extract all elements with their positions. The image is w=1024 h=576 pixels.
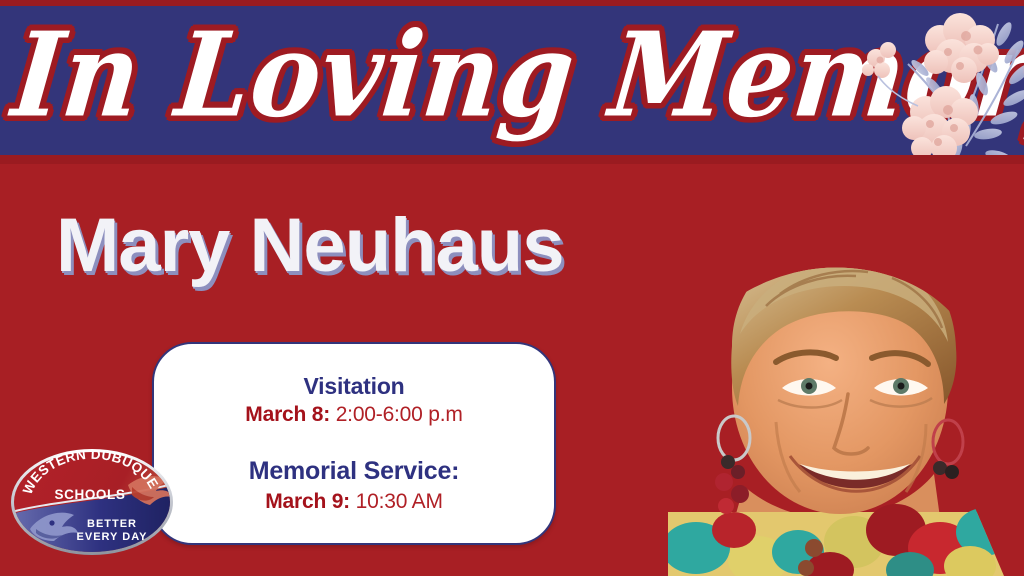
event-title: Visitation — [172, 373, 536, 399]
event-time: 10:30 AM — [356, 490, 443, 513]
logo-line2: SCHOOLS — [55, 487, 126, 502]
banner-bar: In Loving Memory — [0, 6, 1024, 155]
event-line: March 8: 2:00-6:00 p.m — [172, 402, 536, 427]
event-title: Memorial Service: — [172, 457, 536, 486]
event-date: March 9: — [265, 490, 350, 513]
event-memorial-service: Memorial Service: March 9: 10:30 AM — [172, 457, 536, 514]
service-details-card: Visitation March 8: 2:00-6:00 p.m Memori… — [152, 342, 556, 545]
event-date: March 8: — [245, 403, 330, 426]
logo-tagline-1: BETTER — [87, 518, 137, 530]
banner-script-title: In Loving Memory — [5, 6, 923, 155]
deceased-name: Mary Neuhaus — [56, 202, 564, 289]
event-line: March 9: 10:30 AM — [172, 489, 536, 514]
school-logo: WESTERN DUBUQUE SCHOOLS BETTER EVERY DAY — [8, 441, 176, 563]
event-visitation: Visitation March 8: 2:00-6:00 p.m — [172, 373, 536, 428]
logo-tagline-2: EVERY DAY — [77, 531, 148, 543]
portrait-photo — [648, 156, 1024, 576]
event-time: 2:00-6:00 p.m — [336, 403, 463, 426]
memorial-graphic: In Loving Memory — [0, 0, 1024, 576]
